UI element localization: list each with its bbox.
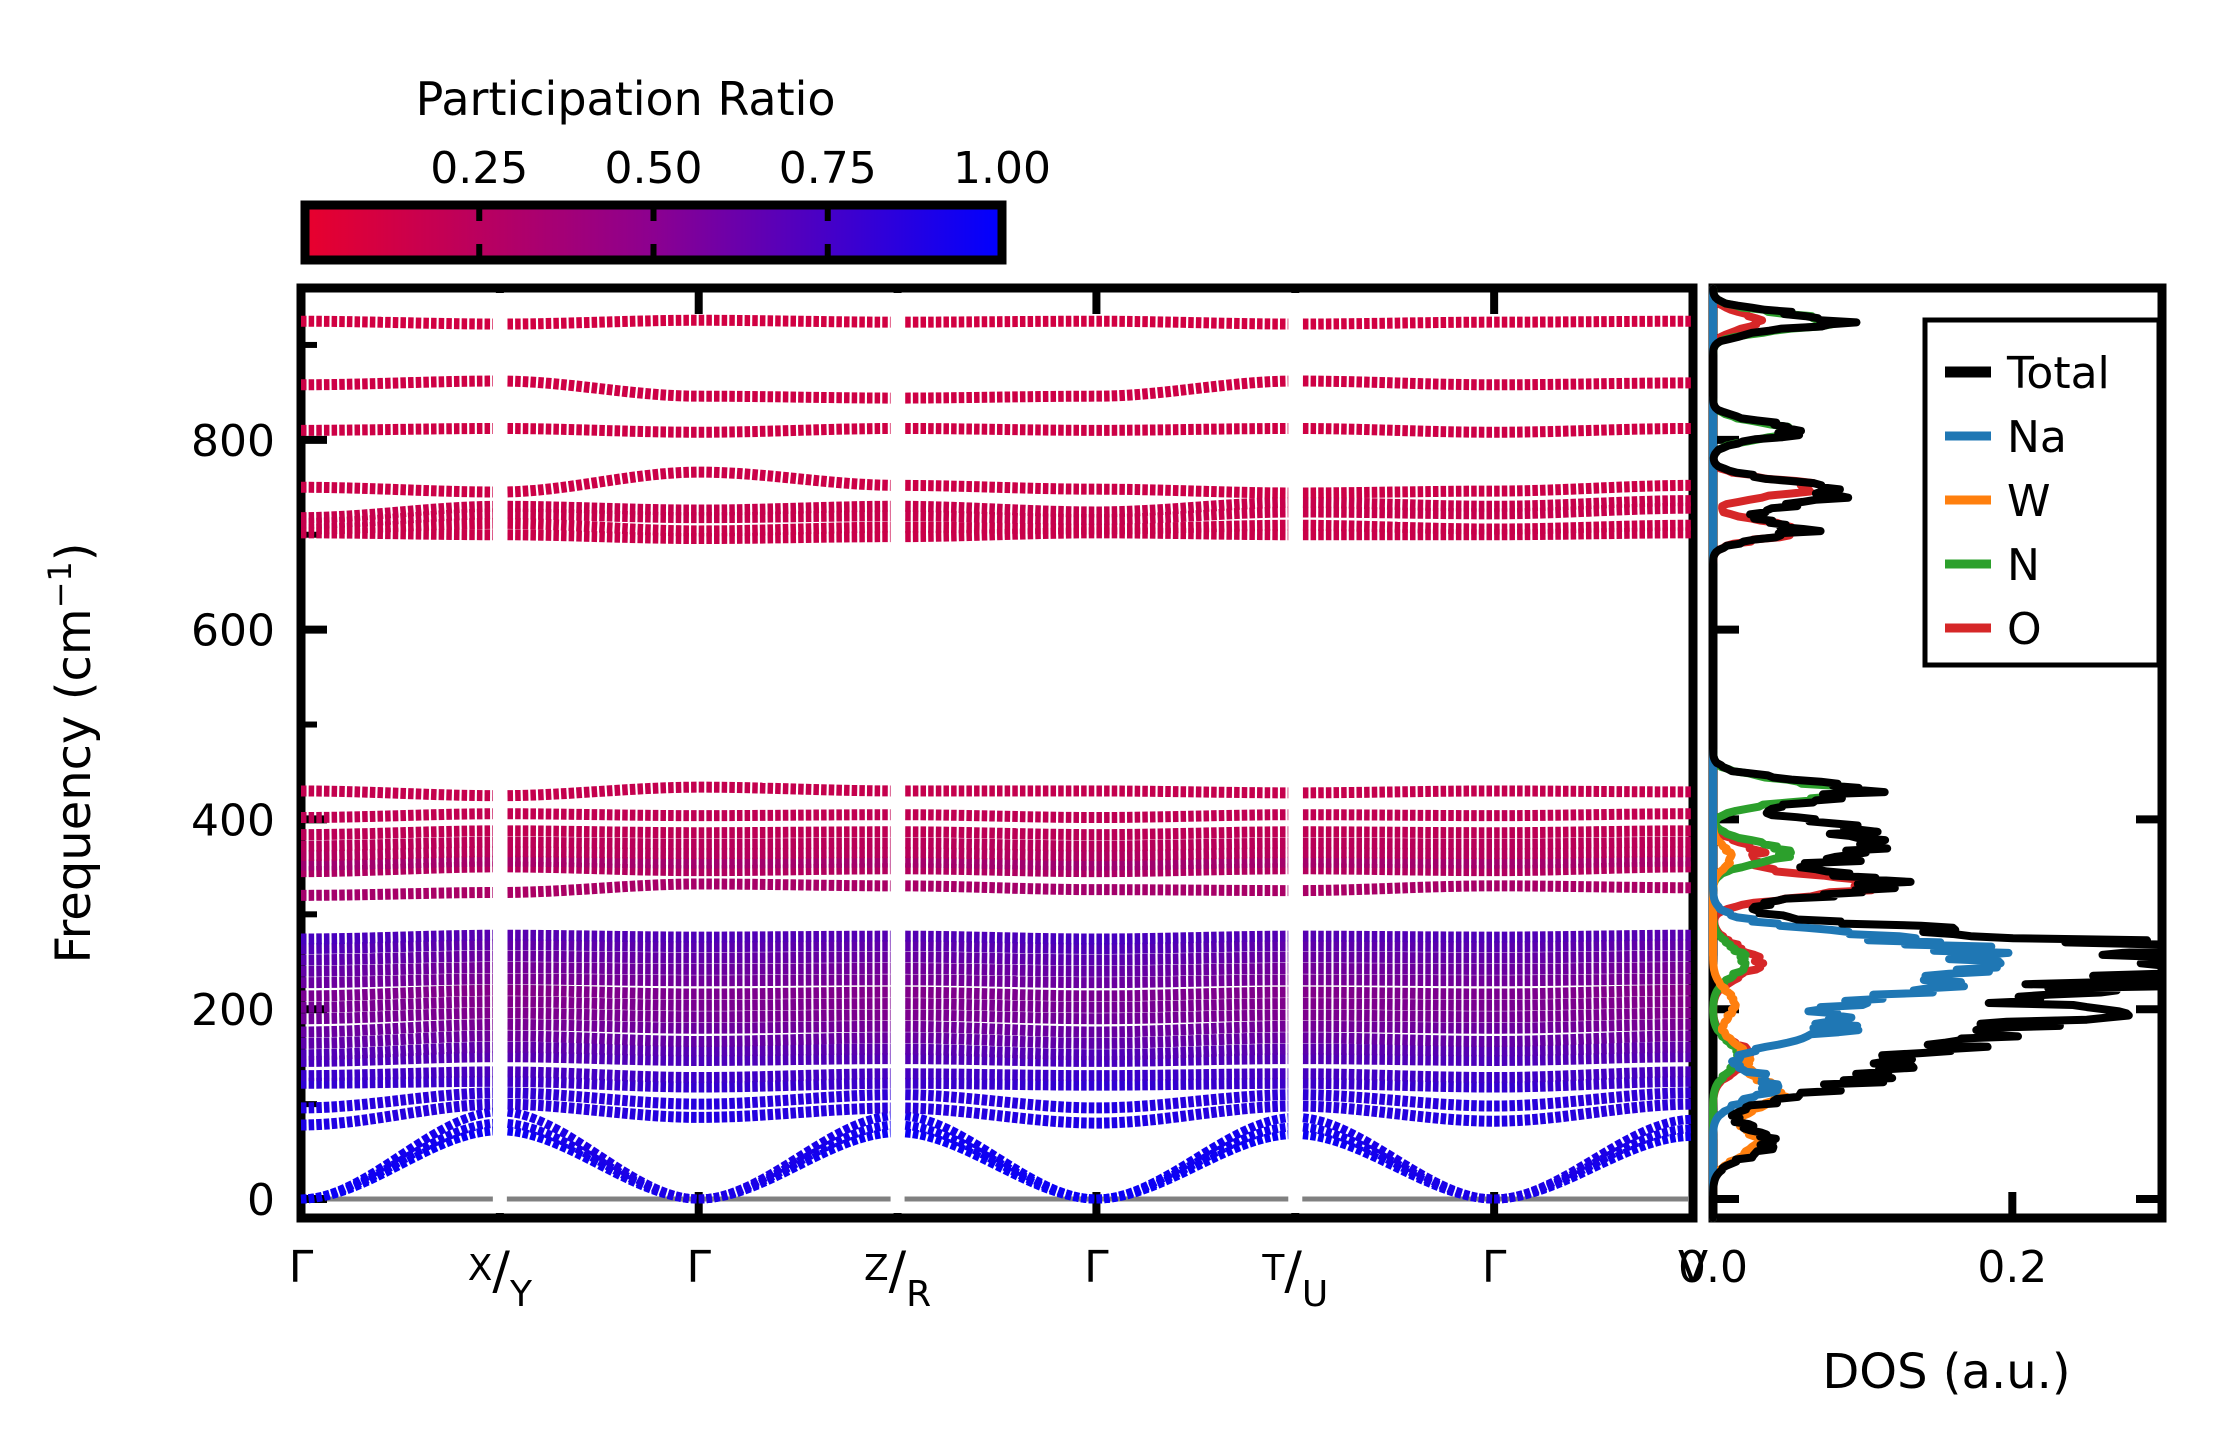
band-segment xyxy=(1647,1136,1653,1138)
colorbar-tick-label-2: 0.75 xyxy=(779,143,877,194)
band-segment xyxy=(1058,1191,1064,1193)
band-segment xyxy=(1349,1146,1355,1148)
band-segment xyxy=(1624,1138,1630,1141)
band-segment xyxy=(339,1122,345,1123)
band-ytick-label-400: 400 xyxy=(191,795,275,846)
band-segment xyxy=(431,1133,437,1136)
band-segment xyxy=(1678,1137,1684,1138)
band-segment xyxy=(943,1127,949,1130)
band-segment xyxy=(546,1140,552,1142)
band-segment xyxy=(921,1128,927,1129)
band-segment xyxy=(653,1187,659,1189)
band-segment xyxy=(1188,1160,1194,1163)
band-segment xyxy=(1326,1131,1332,1133)
band-segment xyxy=(370,1118,376,1119)
band-segment xyxy=(966,1139,972,1142)
band-segment xyxy=(1624,1108,1630,1109)
band-segment xyxy=(913,1134,919,1135)
band-segment xyxy=(821,1140,827,1143)
band-segment xyxy=(1242,1144,1248,1146)
band-segment xyxy=(1165,1118,1171,1119)
band-segment xyxy=(714,1196,720,1197)
band-segment xyxy=(592,1110,598,1111)
band-ytick-label-800: 800 xyxy=(191,416,275,467)
band-segment xyxy=(1341,1137,1347,1139)
band-segment xyxy=(1479,1198,1485,1199)
band-segment xyxy=(515,1132,521,1133)
band-segment xyxy=(1318,1130,1324,1131)
band-segment xyxy=(477,1114,483,1115)
band-segment xyxy=(859,1122,865,1124)
band-segment xyxy=(1632,1135,1638,1138)
band-segment xyxy=(1226,1110,1232,1111)
band-segment xyxy=(1234,1133,1240,1136)
band-segment xyxy=(1356,1143,1362,1146)
band-segment xyxy=(1670,1138,1676,1139)
band-segment xyxy=(768,1173,774,1176)
band-segment xyxy=(416,1149,422,1152)
band-segment xyxy=(943,1142,949,1144)
band-segment xyxy=(385,1162,391,1166)
band-segment xyxy=(538,1130,544,1132)
band-ytick-label-0: 0 xyxy=(247,1175,275,1226)
band-xtick-label-0: Γ xyxy=(289,1242,314,1293)
band-segment xyxy=(362,1104,368,1105)
band-segment xyxy=(1020,1118,1026,1119)
band-segment xyxy=(393,1115,399,1116)
band-segment xyxy=(859,1137,865,1139)
band-segment xyxy=(1028,1119,1034,1120)
band-segment xyxy=(1181,1102,1187,1103)
band-segment xyxy=(951,1111,957,1112)
band-segment xyxy=(1150,1182,1156,1185)
band-segment xyxy=(1372,1144,1378,1147)
band-segment xyxy=(966,1098,972,1099)
band-segment xyxy=(423,1137,429,1140)
band-segment xyxy=(393,1157,399,1161)
band-segment xyxy=(836,1131,842,1134)
band-segment xyxy=(1188,1115,1194,1116)
band-segment xyxy=(974,1143,980,1146)
band-segment xyxy=(408,1147,414,1151)
band-segment xyxy=(905,1133,911,1134)
band-segment xyxy=(431,1109,437,1110)
band-segment xyxy=(416,1111,422,1112)
band-segment xyxy=(683,1198,689,1199)
band-xtick-label-6: Γ xyxy=(1482,1242,1507,1293)
band-segment xyxy=(462,1118,468,1120)
band-segment xyxy=(1395,1158,1401,1161)
band-segment xyxy=(423,1110,429,1111)
band-segment xyxy=(538,1137,544,1139)
band-segment xyxy=(783,1163,789,1166)
band-segment xyxy=(1234,1141,1240,1143)
band-segment xyxy=(1265,1130,1271,1131)
band-segment xyxy=(882,1116,888,1117)
band-segment xyxy=(1196,1114,1202,1115)
band-segment xyxy=(370,1172,376,1175)
band-segment xyxy=(1617,1149,1623,1152)
band-segment xyxy=(1609,1110,1615,1111)
band-segment xyxy=(423,1097,429,1098)
band-segment xyxy=(1204,1100,1210,1101)
band-segment xyxy=(706,1198,712,1199)
band-segment xyxy=(1249,1141,1255,1143)
band-segment xyxy=(1181,1164,1187,1167)
band-segment xyxy=(1540,1186,1546,1188)
band-segment xyxy=(798,1154,804,1157)
band-segment xyxy=(1073,1196,1079,1197)
band-segment xyxy=(576,1148,582,1151)
band-segment xyxy=(400,1114,406,1115)
band-segment xyxy=(1410,1115,1416,1116)
band-segment xyxy=(584,1152,590,1155)
band-segment xyxy=(530,1117,536,1119)
band-segment xyxy=(439,1108,445,1109)
band-segment xyxy=(1142,1120,1148,1121)
band-segment xyxy=(1334,1125,1340,1127)
band-segment xyxy=(508,1123,514,1124)
band-segment xyxy=(622,1170,628,1173)
band-segment xyxy=(867,1128,873,1129)
band-segment xyxy=(362,1120,368,1121)
band-segment xyxy=(523,1115,529,1117)
figure-canvas: 0.250.500.751.00Participation Ratio02004… xyxy=(0,0,2222,1455)
band-segment xyxy=(1165,1104,1171,1105)
band-ylabel: Frequency (cm−1) xyxy=(41,542,102,963)
band-segment xyxy=(760,1177,766,1180)
band-segment xyxy=(1395,1114,1401,1115)
band-segment xyxy=(913,1126,919,1127)
band-segment xyxy=(844,1142,850,1144)
band-segment xyxy=(446,1134,452,1136)
band-segment xyxy=(943,1135,949,1137)
band-segment xyxy=(852,1133,858,1135)
band-xtick-label-1: X/Y xyxy=(468,1241,533,1315)
band-segment xyxy=(1272,1119,1278,1120)
band-segment xyxy=(408,1154,414,1157)
band-segment xyxy=(936,1139,942,1141)
band-segment xyxy=(1204,1113,1210,1114)
band-segment xyxy=(1081,1198,1087,1199)
band-ytick-label-200: 200 xyxy=(191,985,275,1036)
band-segment xyxy=(959,1134,965,1137)
band-segment xyxy=(1188,1101,1194,1102)
band-segment xyxy=(1142,1185,1148,1188)
band-segment xyxy=(989,1152,995,1155)
band-segment xyxy=(1211,1099,1217,1100)
band-segment xyxy=(355,1105,361,1106)
band-segment xyxy=(1196,1155,1202,1158)
band-segment xyxy=(921,1119,927,1121)
band-segment xyxy=(989,1101,995,1102)
band-segment xyxy=(1219,1148,1225,1151)
band-segment xyxy=(1372,1111,1378,1112)
band-segment xyxy=(1311,1136,1317,1137)
band-segment xyxy=(416,1142,422,1146)
band-segment xyxy=(1272,1128,1278,1129)
band-segment xyxy=(989,1115,995,1116)
band-segment xyxy=(645,1183,651,1186)
band-segment xyxy=(1234,1109,1240,1110)
band-segment xyxy=(1571,1101,1577,1102)
band-segment xyxy=(1571,1170,1577,1173)
band-segment xyxy=(1204,1150,1210,1153)
band-segment xyxy=(867,1119,873,1121)
band-segment xyxy=(882,1133,888,1134)
band-segment xyxy=(607,1112,613,1113)
band-segment xyxy=(966,1112,972,1113)
band-segment xyxy=(454,1138,460,1140)
band-segment xyxy=(859,1130,865,1132)
band-segment xyxy=(1318,1137,1324,1138)
band-segment xyxy=(844,1128,850,1131)
band-segment xyxy=(1379,1149,1385,1152)
band-segment xyxy=(1578,1165,1584,1168)
band-segment xyxy=(1471,1196,1477,1197)
band-segment xyxy=(1655,1134,1661,1136)
band-segment xyxy=(439,1128,445,1131)
band-segment xyxy=(1639,1139,1645,1141)
band-segment xyxy=(1601,1098,1607,1099)
band-segment xyxy=(1012,1167,1018,1170)
band-segment xyxy=(630,1175,636,1178)
band-segment xyxy=(370,1103,376,1104)
band-segment xyxy=(485,1131,491,1132)
band-segment xyxy=(1647,1143,1653,1145)
band-segment xyxy=(530,1135,536,1137)
band-segment xyxy=(1356,1136,1362,1139)
band-segment xyxy=(477,1125,483,1126)
band-segment xyxy=(966,1145,972,1148)
band-segment xyxy=(951,1144,957,1146)
band-segment xyxy=(1563,1102,1569,1103)
band-segment xyxy=(1425,1117,1431,1118)
band-segment xyxy=(1639,1131,1645,1134)
band-segment xyxy=(1433,1181,1439,1184)
band-segment xyxy=(1005,1162,1011,1165)
band-segment xyxy=(462,1136,468,1138)
band-segment xyxy=(1311,1119,1317,1120)
band-segment xyxy=(546,1124,552,1127)
band-segment xyxy=(997,1101,1003,1102)
band-segment xyxy=(515,1113,521,1114)
band-segment xyxy=(676,1196,682,1197)
band-segment xyxy=(515,1124,521,1125)
band-segment xyxy=(928,1137,934,1139)
band-segment xyxy=(660,1191,666,1193)
band-segment xyxy=(1326,1123,1332,1125)
band-segment xyxy=(1173,1169,1179,1172)
band-segment xyxy=(1341,1143,1347,1145)
band-segment xyxy=(416,1098,422,1099)
band-segment xyxy=(1555,1178,1561,1181)
band-segment xyxy=(1043,1184,1049,1187)
band-segment xyxy=(377,1102,383,1103)
band-segment xyxy=(829,1143,835,1146)
band-segment xyxy=(332,1191,338,1193)
band-segment xyxy=(1035,1120,1041,1121)
band-segment xyxy=(1632,1142,1638,1144)
colorbar-title: Participation Ratio xyxy=(416,72,836,126)
band-segment xyxy=(1594,1099,1600,1100)
band-segment xyxy=(599,1155,605,1159)
band-segment xyxy=(1670,1121,1676,1122)
band-segment xyxy=(959,1111,965,1112)
band-segment xyxy=(1219,1141,1225,1144)
band-segment xyxy=(1257,1123,1263,1125)
band-segment xyxy=(936,1124,942,1126)
band-segment xyxy=(1303,1127,1309,1128)
band-segment xyxy=(875,1127,881,1128)
band-segment xyxy=(1418,1116,1424,1117)
band-segment xyxy=(431,1141,437,1144)
band-segment xyxy=(576,1109,582,1110)
band-segment xyxy=(355,1121,361,1122)
band-segment xyxy=(1280,1127,1286,1128)
band-segment xyxy=(1249,1126,1255,1128)
band-segment xyxy=(1196,1101,1202,1102)
band-segment xyxy=(1265,1121,1271,1123)
band-segment xyxy=(469,1116,475,1118)
band-segment xyxy=(1517,1195,1523,1196)
band-segment xyxy=(546,1133,552,1135)
band-segment xyxy=(377,1117,383,1118)
band-segment xyxy=(1012,1117,1018,1118)
band-segment xyxy=(1632,1148,1638,1150)
band-segment xyxy=(469,1126,475,1128)
band-segment xyxy=(1609,1097,1615,1098)
band-segment xyxy=(1234,1147,1240,1149)
band-segment xyxy=(377,1167,383,1170)
band-segment xyxy=(1433,1118,1439,1119)
band-segment xyxy=(622,1113,628,1114)
band-segment xyxy=(393,1101,399,1102)
band-segment xyxy=(1502,1198,1508,1199)
band-segment xyxy=(1571,1115,1577,1116)
band-segment xyxy=(913,1117,919,1118)
band-segment xyxy=(1548,1118,1554,1119)
band-segment xyxy=(569,1108,575,1109)
band-segment xyxy=(446,1107,452,1108)
band-segment xyxy=(1280,1118,1286,1119)
band-segment xyxy=(1303,1135,1309,1136)
band-segment xyxy=(485,1124,491,1125)
band-segment xyxy=(1119,1194,1125,1196)
band-segment xyxy=(1051,1188,1057,1190)
band-segment xyxy=(836,1139,842,1142)
band-segment xyxy=(362,1176,368,1179)
band-segment xyxy=(1272,1136,1278,1137)
band-segment xyxy=(905,1116,911,1117)
band-segment xyxy=(638,1179,644,1182)
band-segment xyxy=(836,1145,842,1147)
band-segment xyxy=(339,1188,345,1190)
band-segment xyxy=(1249,1135,1255,1137)
band-segment xyxy=(1586,1113,1592,1114)
band-segment xyxy=(1349,1132,1355,1135)
band-segment xyxy=(508,1131,514,1132)
band-segment xyxy=(607,1160,613,1164)
band-segment xyxy=(1173,1103,1179,1104)
band-segment xyxy=(1418,1172,1424,1175)
colorbar-tick-label-0: 0.25 xyxy=(430,143,528,194)
band-xtick-label-4: Γ xyxy=(1084,1242,1109,1293)
band-segment xyxy=(1226,1144,1232,1147)
band-segment xyxy=(584,1109,590,1110)
band-segment xyxy=(462,1106,468,1107)
band-segment xyxy=(1601,1111,1607,1112)
band-segment xyxy=(1617,1097,1623,1098)
band-segment xyxy=(439,1138,445,1141)
band-segment xyxy=(1181,1116,1187,1117)
band-segment xyxy=(982,1114,988,1115)
band-segment xyxy=(1387,1113,1393,1114)
band-segment xyxy=(974,1099,980,1100)
band-segment xyxy=(806,1149,812,1152)
band-segment xyxy=(1387,1154,1393,1157)
band-segment xyxy=(1242,1109,1248,1110)
band-segment xyxy=(813,1144,819,1147)
band-xtick-label-3: Z/R xyxy=(864,1241,931,1315)
band-segment xyxy=(1012,1103,1018,1104)
band-segment xyxy=(1242,1137,1248,1139)
band-segment xyxy=(1311,1128,1317,1129)
band-segment xyxy=(1364,1110,1370,1111)
band-segment xyxy=(1280,1135,1286,1136)
band-segment xyxy=(1578,1114,1584,1115)
band-segment xyxy=(844,1136,850,1138)
band-segment xyxy=(1158,1119,1164,1120)
band-segment xyxy=(1127,1192,1133,1194)
band-segment xyxy=(439,1096,445,1097)
band-segment xyxy=(1647,1128,1653,1130)
band-segment xyxy=(974,1113,980,1114)
band-segment xyxy=(1540,1118,1546,1119)
band-segment xyxy=(538,1120,544,1122)
band-segment xyxy=(1265,1137,1271,1138)
band-segment xyxy=(1173,1117,1179,1118)
band-segment xyxy=(1135,1189,1141,1191)
band-segment xyxy=(462,1129,468,1131)
band-segment xyxy=(1104,1198,1110,1199)
band-segment xyxy=(1303,1118,1309,1119)
band-segment xyxy=(1678,1129,1684,1130)
band-segment xyxy=(408,1099,414,1100)
band-segment xyxy=(737,1189,743,1191)
band-segment xyxy=(553,1127,559,1130)
band-segment xyxy=(905,1125,911,1126)
band-segment xyxy=(553,1143,559,1145)
band-segment xyxy=(1150,1119,1156,1120)
band-segment xyxy=(1035,1180,1041,1183)
band-segment xyxy=(775,1168,781,1171)
band-segment xyxy=(446,1141,452,1143)
band-segment xyxy=(997,1157,1003,1160)
band-segment xyxy=(1662,1123,1668,1125)
band-segment xyxy=(1005,1102,1011,1103)
band-segment xyxy=(592,1150,598,1154)
band-segment xyxy=(1341,1128,1347,1131)
band-segment xyxy=(1356,1109,1362,1110)
phonon-figure: 0.250.500.751.00Participation Ratio02004… xyxy=(0,0,2222,1455)
band-segment xyxy=(1601,1151,1607,1154)
band-segment xyxy=(668,1193,674,1195)
band-segment xyxy=(882,1126,888,1127)
band-segment xyxy=(928,1130,934,1132)
band-segment xyxy=(1594,1156,1600,1159)
band-segment xyxy=(569,1144,575,1147)
